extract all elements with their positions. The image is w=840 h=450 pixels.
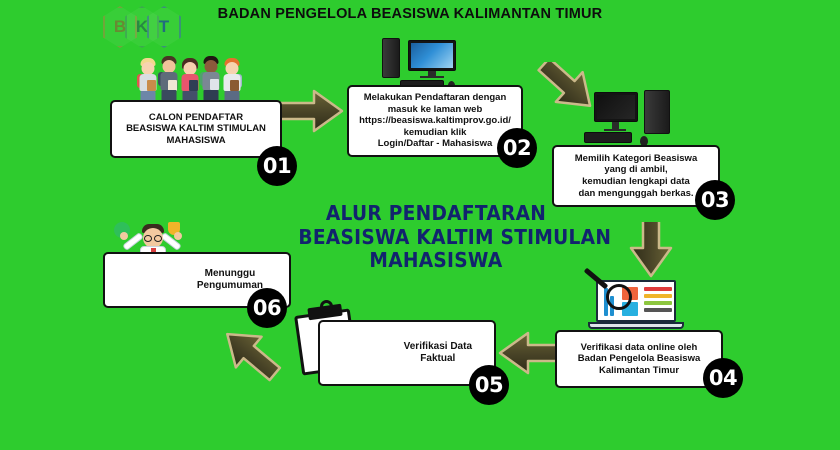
step-2-line-2: masuk ke laman web [355,104,515,116]
step-badge-4: 04 [703,358,743,398]
step-badge-6: 06 [247,288,287,328]
step-5-line-1: Verifikasi Data [404,341,472,353]
step-4-line-3: Kalimantan Timur [563,365,715,377]
step-card-4[interactable]: Verifikasi data online oleh Badan Pengel… [555,330,723,388]
step-4-line-1: Verifikasi data online oleh [563,342,715,354]
step-badge-5: 05 [469,365,509,405]
step-1-line-2: BEASISWA KALTIM STIMULAN [118,123,274,135]
step-2-line-4: kemudian klik [355,127,515,139]
step-badge-2: 02 [497,128,537,168]
step-3-line-2: yang di ambil, [560,164,712,176]
step-card-5-text: Verifikasi Data Faktual [404,341,472,365]
step-6-line-1: Menunggu [197,268,263,280]
step-badge-1: 01 [257,146,297,186]
step-4-line-2: Badan Pengelola Beasiswa [563,353,715,365]
step-6-line-2: Pengumuman [197,280,263,292]
step-2-line-3: https://beasiswa.kaltimprov.go.id/ [355,115,515,127]
arrow-step1-to-step2 [278,88,344,134]
step-card-3-text: Memilih Kategori Beasiswa yang di ambil,… [560,153,712,199]
step-card-4-text: Verifikasi data online oleh Badan Pengel… [563,342,715,377]
step-2-line-1: Melakukan Pendaftaran dengan [355,92,515,104]
infographic-canvas: B K T BADAN PENGELOLA BEASISWA KALIMANTA… [0,0,840,450]
step-3-line-4: dan mengunggah berkas. [560,188,712,200]
step-2-line-5: Login/Daftar - Mahasiswa [355,138,515,150]
step-card-6-text: Menunggu Pengumuman [197,268,263,292]
step-5-line-2: Faktual [404,353,472,365]
center-headline-line-3: MAHASISWA [298,249,573,273]
step-3-line-3: kemudian lengkapi data [560,176,712,188]
arrow-step5-to-step6 [218,328,290,400]
step-card-2-text: Melakukan Pendaftaran dengan masuk ke la… [355,92,515,150]
arrow-step2-to-step3 [534,62,606,128]
center-headline-line-1: ALUR PENDAFTARAN [298,202,573,226]
center-headline: ALUR PENDAFTARAN BEASISWA KALTIM STIMULA… [298,202,573,273]
step-card-1[interactable]: CALON PENDAFTAR BEASISWA KALTIM STIMULAN… [110,100,282,158]
step-1-line-3: MAHASISWA [118,135,274,147]
desktop-computer-icon [378,38,462,90]
step-card-5[interactable]: Verifikasi Data Faktual [318,320,496,386]
center-headline-line-2: BEASISWA KALTIM STIMULAN [298,226,573,250]
step-3-line-1: Memilih Kategori Beasiswa [560,153,712,165]
page-title: BADAN PENGELOLA BEASISWA KALIMANTAN TIMU… [210,6,610,22]
step-1-line-1: CALON PENDAFTAR [118,112,274,124]
step-badge-3: 03 [695,180,735,220]
step-card-1-text: CALON PENDAFTAR BEASISWA KALTIM STIMULAN… [118,112,274,147]
students-group-icon [136,56,244,106]
bkt-logo: B K T [103,2,181,52]
arrow-step3-to-step4 [608,222,674,292]
